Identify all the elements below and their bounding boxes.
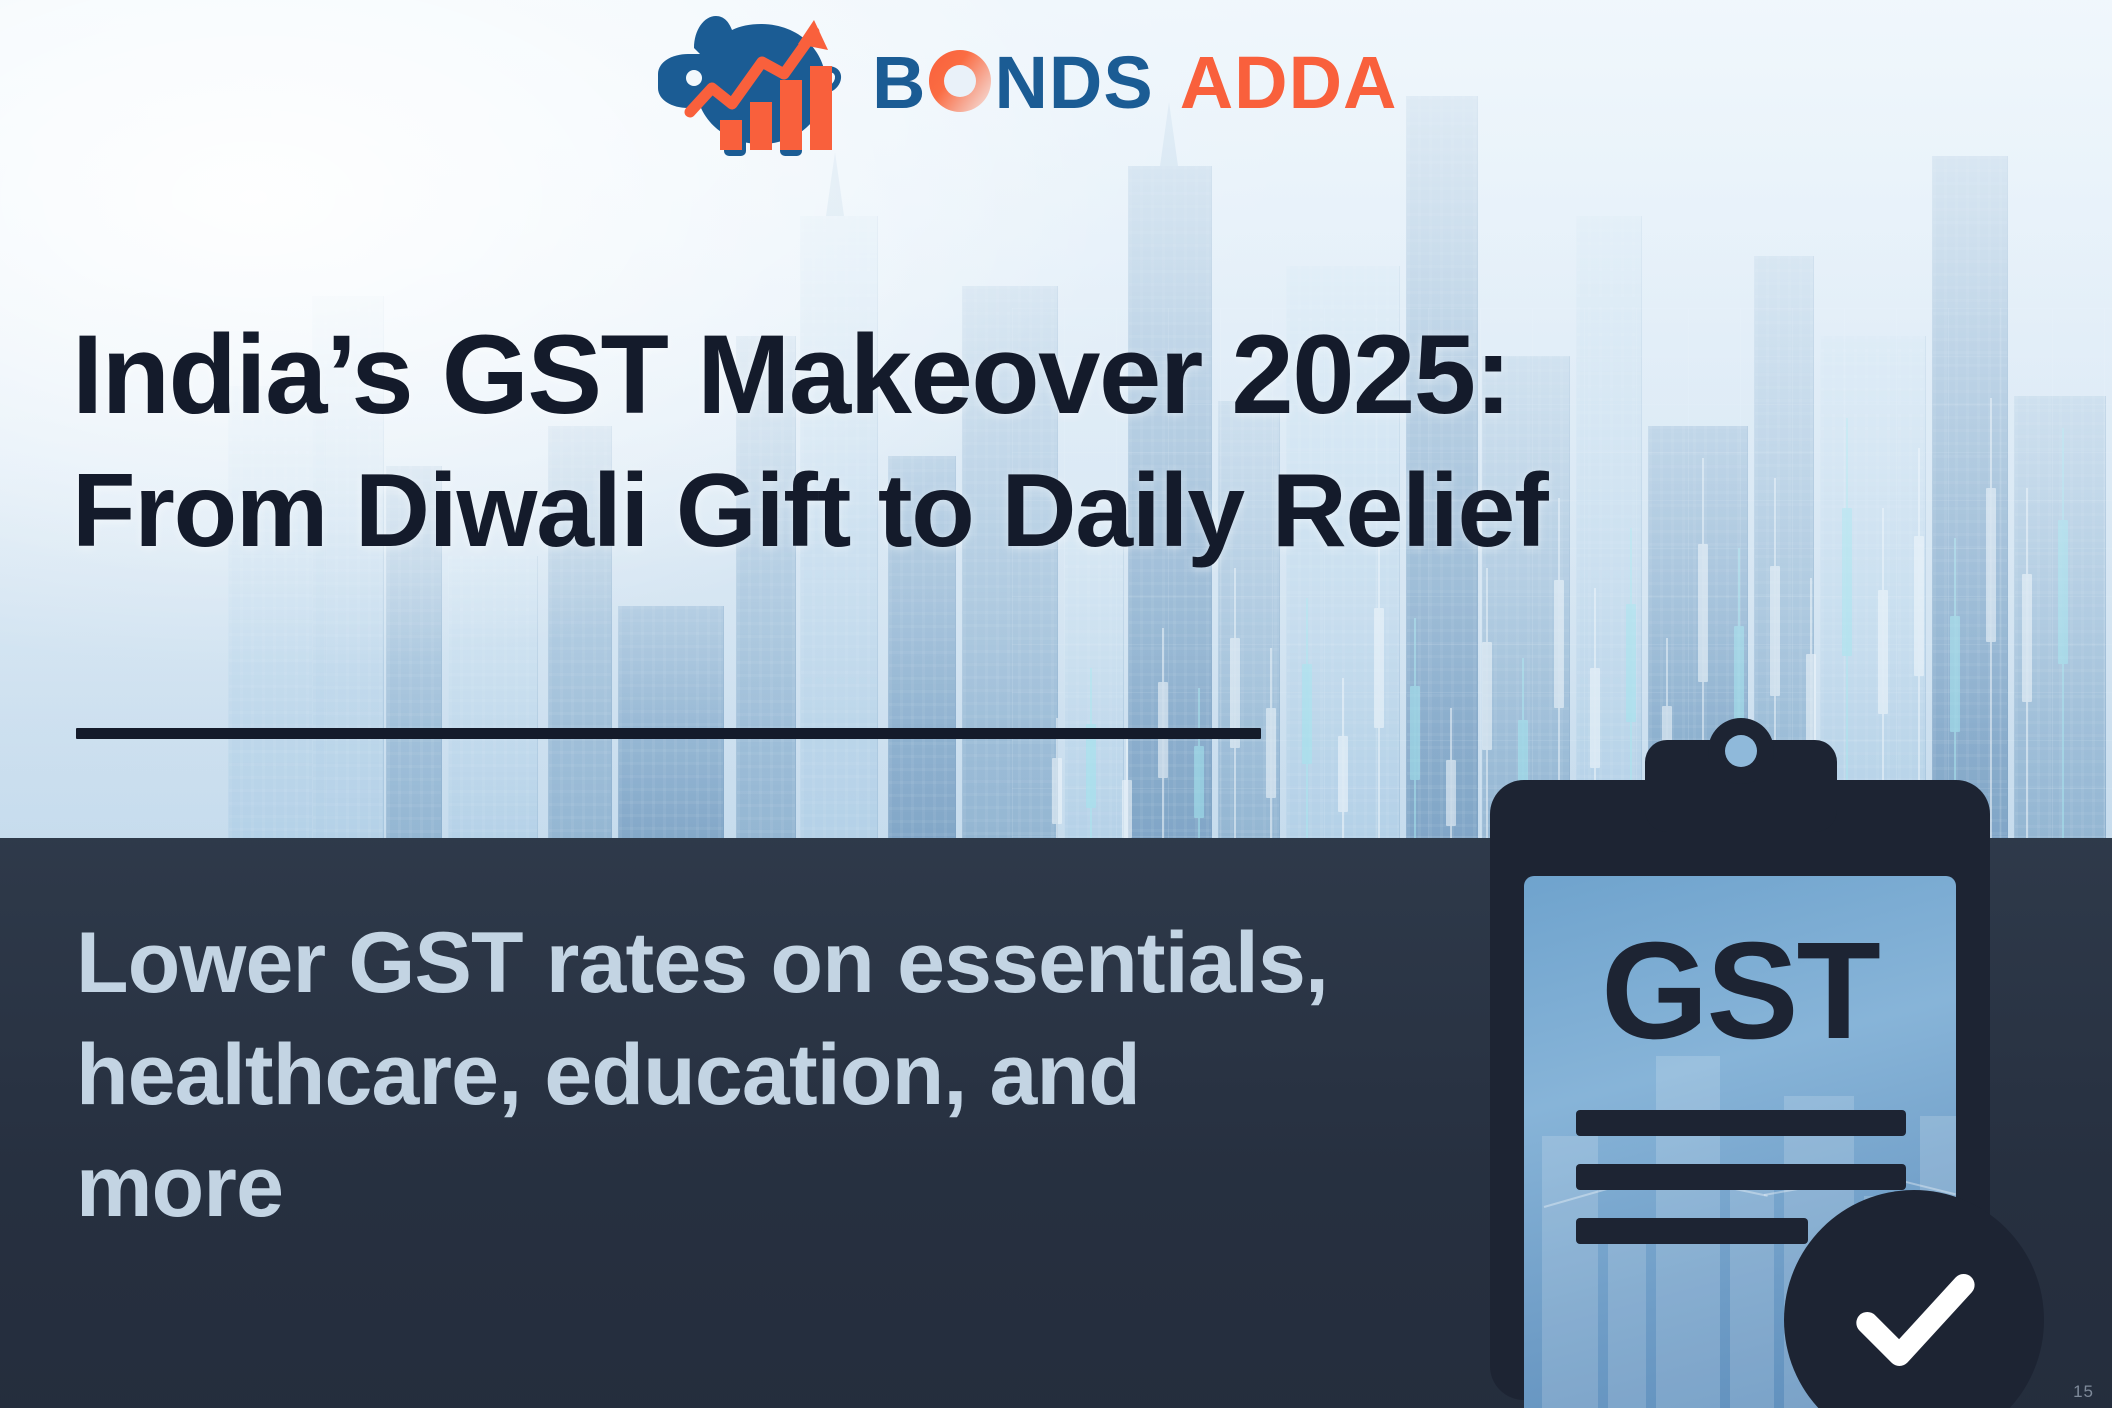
brand-o-ring-icon	[929, 50, 991, 112]
brand-name-nds: NDS	[994, 46, 1153, 120]
clipboard-gst-label: GST	[1490, 922, 1990, 1060]
piggy-bank-growth-chart-icon	[628, 8, 846, 158]
corner-mark: 15	[2073, 1382, 2094, 1402]
brand-name-b: B	[872, 46, 926, 120]
brand-wordmark: BNDSADDA	[872, 46, 1397, 120]
brand-logo[interactable]: BNDSADDA	[628, 8, 1397, 158]
subtitle-text: Lower GST rates on essentials, healthcar…	[76, 908, 1366, 1243]
headline-line-1: India’s GST Makeover 2025:	[72, 318, 1548, 432]
clipboard-hole	[1708, 718, 1774, 784]
headline-underline-rule	[76, 728, 1261, 739]
brand-name-adda: ADDA	[1180, 46, 1398, 120]
poster-canvas: BNDSADDA India’s GST Makeover 2025: From…	[0, 0, 2112, 1408]
headline-line-2: From Diwali Gift to Daily Relief	[72, 458, 1548, 564]
gst-clipboard-graphic: GST	[1490, 740, 1990, 1400]
page-title: India’s GST Makeover 2025: From Diwali G…	[72, 318, 1548, 564]
